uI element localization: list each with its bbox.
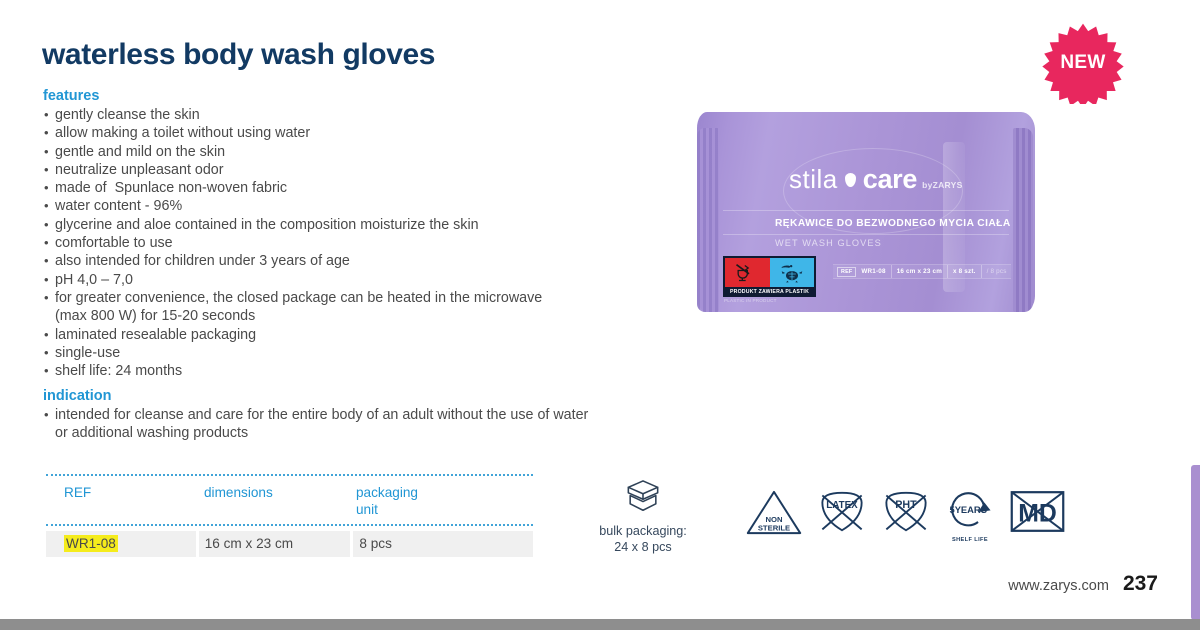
cert-medical-device: MD	[1009, 488, 1066, 540]
pack-divider-top	[723, 210, 1009, 211]
marine-life-panel	[770, 258, 815, 287]
cert-latex-free: LATEX	[817, 488, 867, 540]
table-header-packaging-unit: packaging unit	[350, 484, 533, 518]
pack-ref-unit-en: / 8 pcs	[982, 265, 1012, 278]
brand-care: care	[863, 164, 917, 195]
non-sterile-icon: NON STERILE	[745, 488, 803, 537]
brand-by-zarys: byZARYS	[922, 180, 963, 190]
list-item: neutralize unpleasant odor	[43, 161, 683, 179]
cert-pht-free: PHT	[881, 488, 931, 540]
table-cell-dimensions: 16 cm x 23 cm	[199, 531, 351, 557]
list-item: intended for cleanse and care for the en…	[43, 406, 693, 424]
table-header-packaging-line2: unit	[356, 502, 378, 517]
pack-title-polish: RĘKAWICE DO BEZWODNEGO MYCIA CIAŁA	[775, 218, 1011, 229]
table-rule-bottom	[46, 524, 533, 526]
table-header-packaging-line1: packaging	[356, 485, 418, 500]
list-item: shelf life: 24 months	[43, 362, 683, 380]
bottom-bar	[0, 619, 1200, 630]
svg-text:STERILE: STERILE	[758, 523, 790, 532]
certification-icons: NON STERILE LATEX PHT 5YEARS	[745, 488, 1066, 543]
list-item: gentle and mild on the skin	[43, 143, 683, 161]
no-flush-panel	[725, 258, 770, 287]
sticker-subcaption: PLASTIC IN PRODUCT	[724, 298, 777, 303]
spec-table: REF dimensions packaging unit WR1-08 16 …	[46, 474, 533, 557]
list-item: laminated resealable packaging	[43, 326, 683, 344]
pack-ref-strip: REF WR1-08 16 cm x 23 cm x 8 szt. / 8 pc…	[833, 264, 1011, 279]
page-title: waterless body wash gloves	[42, 38, 435, 72]
plastic-warning-sticker: PRODUKT ZAWIERA PLASTIK	[723, 256, 816, 297]
pack-ref-value: WR1-08	[856, 265, 891, 278]
ref-highlight: WR1-08	[64, 535, 118, 552]
bulk-packaging-value: 24 x 8 pcs	[588, 540, 698, 556]
list-item: pH 4,0 – 7,0	[43, 271, 683, 289]
product-image: stila care byZARYS RĘKAWICE DO BEZWODNEG…	[693, 104, 1041, 322]
list-item: single-use	[43, 344, 683, 362]
pack-left-crimp	[697, 128, 719, 312]
catalog-page: waterless body wash gloves NEW features …	[0, 0, 1200, 630]
list-item: or additional washing products	[43, 424, 693, 442]
shelf-life-caption: SHELF LIFE	[945, 537, 995, 543]
indication-section: indication intended for cleanse and care…	[43, 388, 693, 443]
features-heading: features	[43, 88, 683, 104]
side-tab[interactable]	[1191, 465, 1200, 620]
sticker-caption: PRODUKT ZAWIERA PLASTIK	[725, 287, 814, 297]
list-item: gently cleanse the skin	[43, 106, 683, 124]
table-header-row: REF dimensions packaging unit	[46, 476, 533, 524]
latex-free-icon: LATEX	[817, 488, 867, 535]
list-item: for greater convenience, the closed pack…	[43, 289, 683, 307]
pack-ref-unit: x 8 szt.	[948, 265, 982, 278]
features-section: features gently cleanse the skinallow ma…	[43, 88, 683, 380]
cert-non-sterile: NON STERILE	[745, 488, 803, 542]
table-header-dimensions: dimensions	[198, 484, 350, 518]
website-label: www.zarys.com	[1008, 578, 1109, 594]
pht-free-icon: PHT	[881, 488, 931, 535]
indication-heading: indication	[43, 388, 693, 404]
table-cell-ref: WR1-08	[46, 531, 196, 557]
pack-body: stila care byZARYS RĘKAWICE DO BEZWODNEG…	[697, 112, 1035, 312]
pack-right-crimp	[1013, 128, 1033, 312]
footer: www.zarys.com 237	[1008, 572, 1158, 596]
bulk-packaging-label: bulk packaging:	[588, 524, 698, 540]
brand-stila: stila	[789, 164, 838, 195]
water-drop-icon	[845, 173, 856, 187]
medical-device-icon: MD	[1009, 488, 1066, 535]
list-item: made of Spunlace non-woven fabric	[43, 179, 683, 197]
list-item: water content - 96%	[43, 197, 683, 215]
pack-brand: stila care byZARYS	[789, 164, 963, 195]
table-cell-packaging-unit: 8 pcs	[353, 531, 533, 557]
sea-turtle-icon	[780, 262, 804, 284]
cert-shelf-life: 5YEARS SHELF LIFE	[945, 488, 995, 543]
pack-divider-mid	[723, 234, 1009, 235]
open-box-icon	[621, 478, 665, 515]
svg-text:MD: MD	[1018, 501, 1057, 528]
page-number: 237	[1123, 572, 1158, 596]
indication-list: intended for cleanse and care for the en…	[43, 406, 693, 443]
table-row: WR1-08 16 cm x 23 cm 8 pcs	[46, 531, 533, 557]
list-item: comfortable to use	[43, 234, 683, 252]
list-item: allow making a toilet without using wate…	[43, 124, 683, 142]
table-header-ref: REF	[46, 484, 198, 518]
shelf-life-icon: 5YEARS	[945, 488, 995, 531]
list-item: also intended for children under 3 years…	[43, 252, 683, 270]
new-badge: NEW	[1042, 22, 1124, 104]
svg-text:5YEARS: 5YEARS	[949, 505, 986, 515]
pack-title-english: WET WASH GLOVES	[775, 238, 882, 248]
list-item: glycerine and aloe contained in the comp…	[43, 216, 683, 234]
features-list: gently cleanse the skinallow making a to…	[43, 106, 683, 380]
no-flush-toilet-icon	[734, 263, 754, 283]
pack-ref-dimensions: 16 cm x 23 cm	[892, 265, 948, 278]
pack-ref-tag: REF	[837, 267, 856, 277]
new-badge-label: NEW	[1042, 22, 1124, 104]
sticker-panels	[725, 258, 814, 287]
list-item: (max 800 W) for 15-20 seconds	[43, 307, 683, 325]
bulk-packaging: bulk packaging: 24 x 8 pcs	[588, 478, 698, 555]
